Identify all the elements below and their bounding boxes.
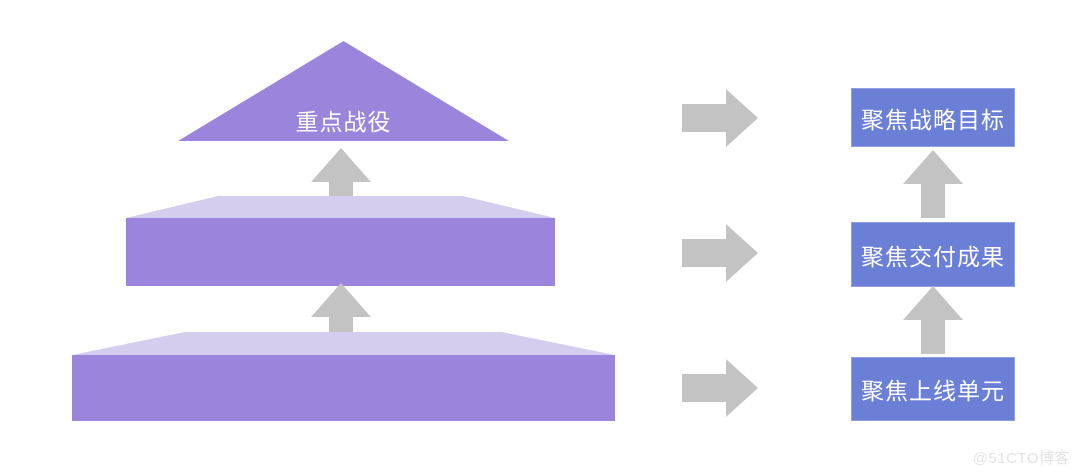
arrow-up-icon <box>903 150 963 218</box>
focus-box-release[interactable]: 聚焦上线单元 <box>851 357 1015 421</box>
focus-box-strategy-label: 聚焦战略目标 <box>861 101 1005 135</box>
arrow-right-icon <box>682 89 758 147</box>
pyramid-tier-apex[interactable]: 重点战役 <box>178 41 509 141</box>
pyramid-tier-middle[interactable]: Feature <box>126 196 555 286</box>
focus-box-strategy[interactable]: 聚焦战略目标 <box>851 88 1015 147</box>
slab-shape <box>72 332 615 421</box>
arrow-right-icon <box>682 224 758 282</box>
arrow-up-glyph <box>903 286 963 354</box>
pyramid-tier-middle-label: Feature <box>126 436 555 462</box>
diagram-canvas: 重点战役 Feature <box>0 0 1080 474</box>
arrow-right-glyph <box>682 224 758 282</box>
arrow-up-glyph <box>903 150 963 218</box>
slab-shape <box>126 196 555 286</box>
focus-box-delivery-label: 聚焦交付成果 <box>861 238 1005 272</box>
pyramid-diagram: 重点战役 Feature <box>0 0 660 474</box>
arrow-right-icon <box>682 359 758 417</box>
pyramid-tier-bottom[interactable]: Story <box>72 332 615 421</box>
arrow-up-icon <box>903 286 963 354</box>
arrow-right-glyph <box>682 359 758 417</box>
arrow-right-glyph <box>682 89 758 147</box>
focus-box-release-label: 聚焦上线单元 <box>861 372 1005 406</box>
watermark: @51CTO博客 <box>973 447 1070 468</box>
triangle-shape <box>178 41 509 141</box>
focus-box-delivery[interactable]: 聚焦交付成果 <box>851 222 1015 287</box>
